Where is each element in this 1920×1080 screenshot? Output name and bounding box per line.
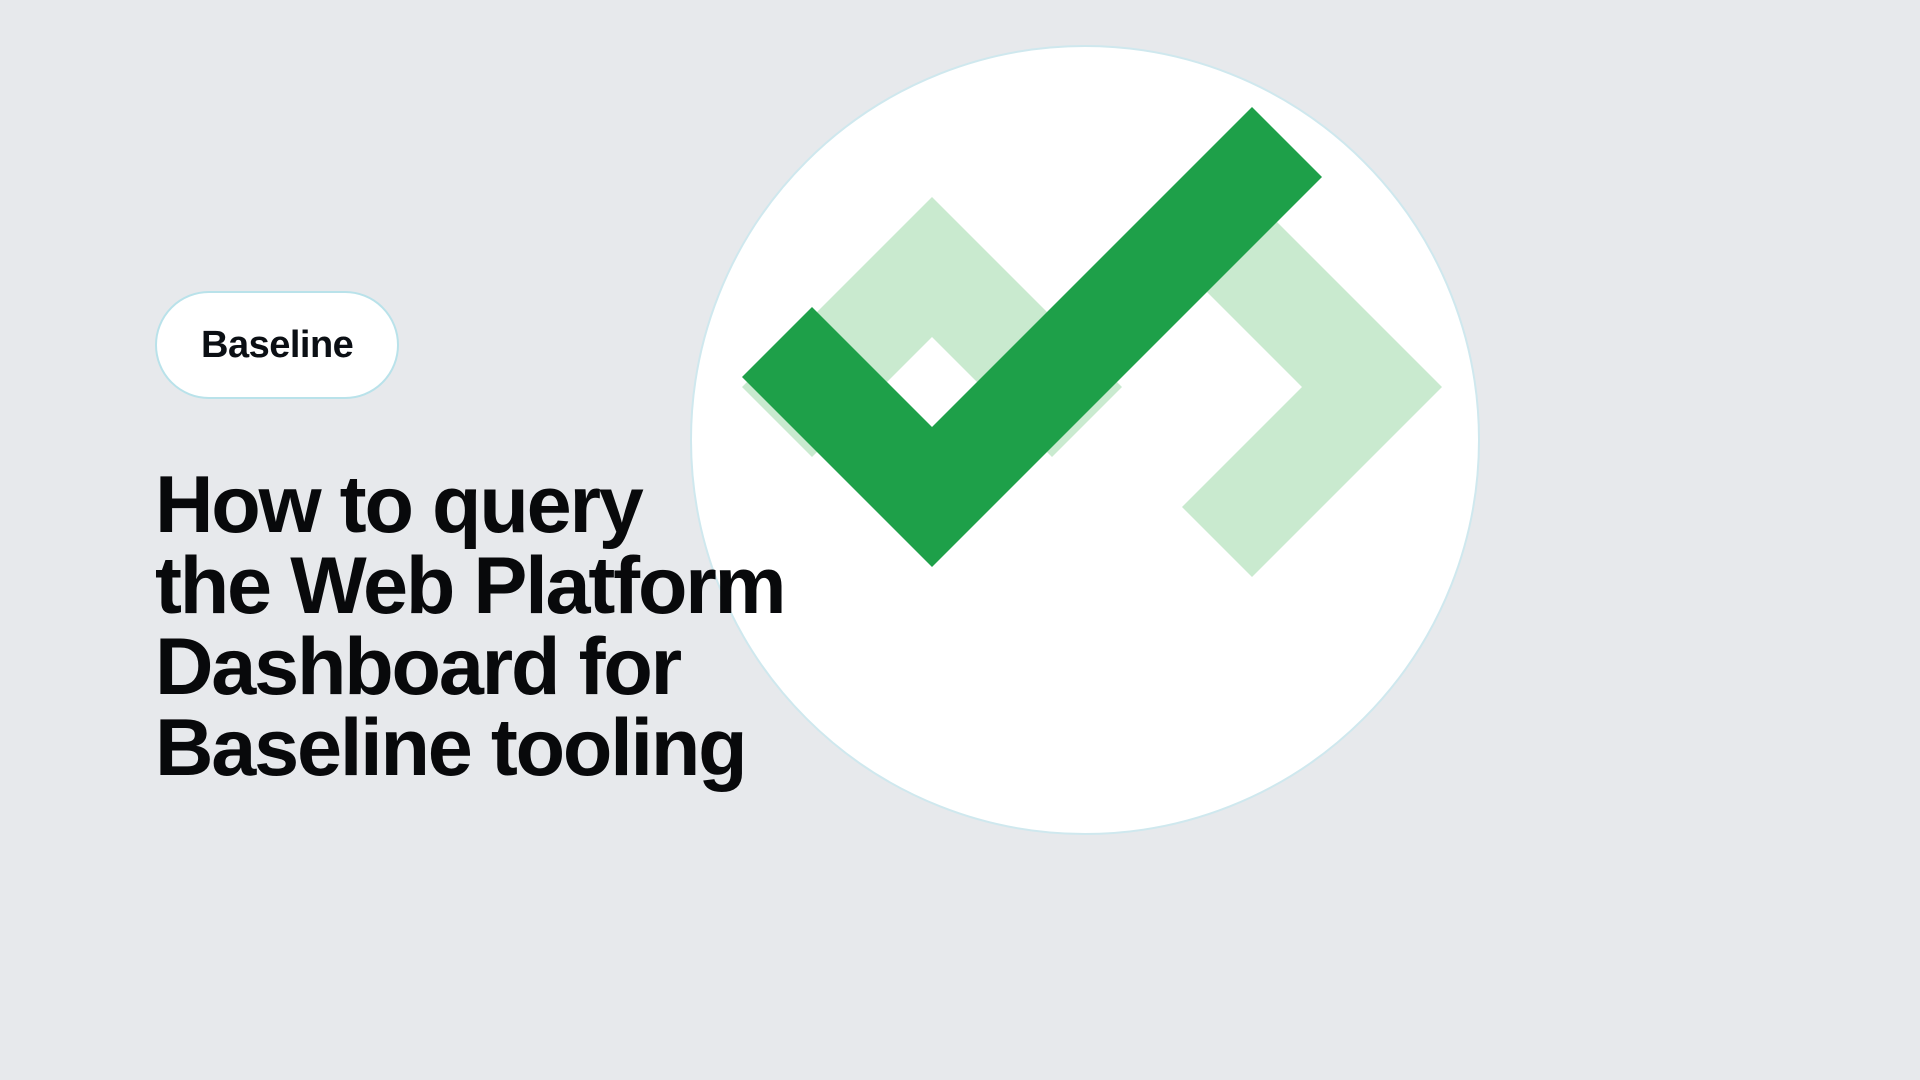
page-title-line-4: Baseline tooling [155,708,784,789]
page-title-line-2: the Web Platform [155,546,784,627]
page-title: How to query the Web Platform Dashboard … [155,465,784,789]
page-title-line-1: How to query [155,465,784,546]
page-title-line-3: Dashboard for [155,627,784,708]
hero-card: Baseline How to query the Web Platform D… [0,0,1920,1080]
content-column: Baseline How to query the Web Platform D… [155,0,835,1080]
baseline-badge: Baseline [155,291,399,399]
baseline-badge-label: Baseline [201,326,353,364]
